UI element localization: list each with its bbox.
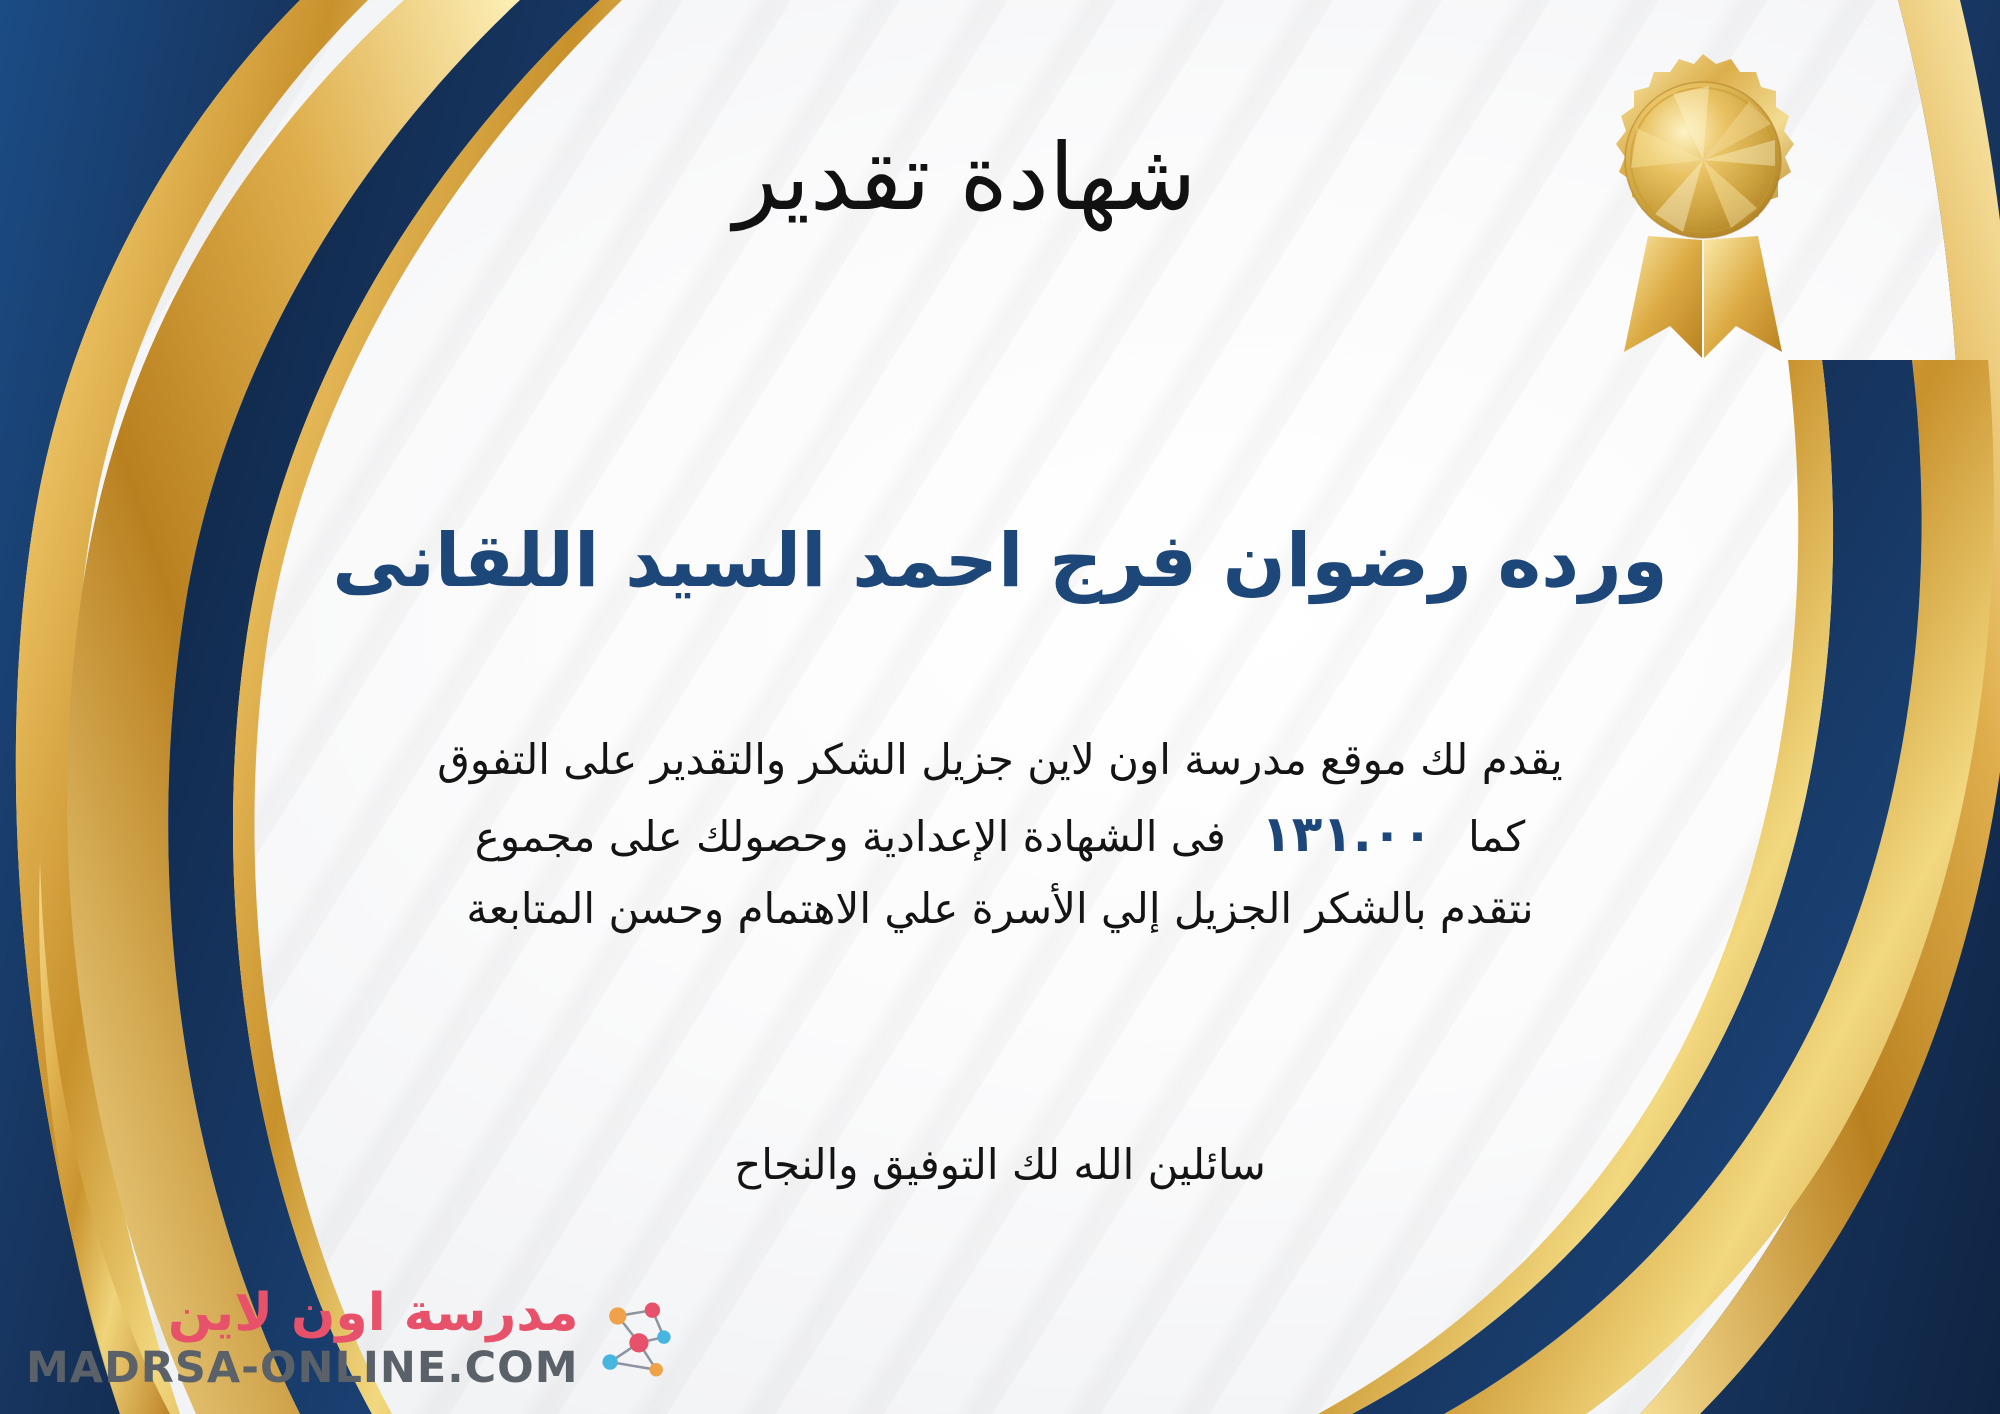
body-line-3: نتقدم بالشكر الجزيل إلي الأسرة علي الاهت… bbox=[60, 875, 1940, 943]
body-line-2: كما ١٣١.٠٠ فى الشهادة الإعدادية وحصولك ع… bbox=[60, 794, 1940, 875]
certificate-body: يقدم لك موقع مدرسة اون لاين جزيل الشكر و… bbox=[0, 726, 2000, 943]
brand-arabic-name: مدرسة اون لاين bbox=[168, 1287, 579, 1339]
recipient-name: ورده رضوان فرج احمد السيد اللقانى bbox=[0, 520, 2000, 603]
body-line-2-prefix: فى الشهادة الإعدادية وحصولك على مجموع bbox=[475, 812, 1226, 861]
brand-text-block: مدرسة اون لاين MADRSA-ONLINE.COM bbox=[26, 1287, 579, 1390]
certificate-canvas: شهادة تقدير ورده رضوان فرج احمد السيد ال… bbox=[0, 0, 2000, 1414]
network-nodes-icon bbox=[589, 1291, 685, 1387]
grade-total-value: ١٣١.٠٠ bbox=[1239, 805, 1455, 863]
body-line-1: يقدم لك موقع مدرسة اون لاين جزيل الشكر و… bbox=[60, 726, 1940, 794]
closing-message: سائلين الله لك التوفيق والنجاح bbox=[0, 1140, 2000, 1189]
brand-url: MADRSA-ONLINE.COM bbox=[26, 1347, 579, 1390]
gold-medal-rosette-icon bbox=[1578, 40, 1828, 370]
brand-logo[interactable]: مدرسة اون لاين MADRSA-ONLINE.COM bbox=[26, 1287, 685, 1390]
body-line-2-suffix: كما bbox=[1468, 812, 1525, 861]
